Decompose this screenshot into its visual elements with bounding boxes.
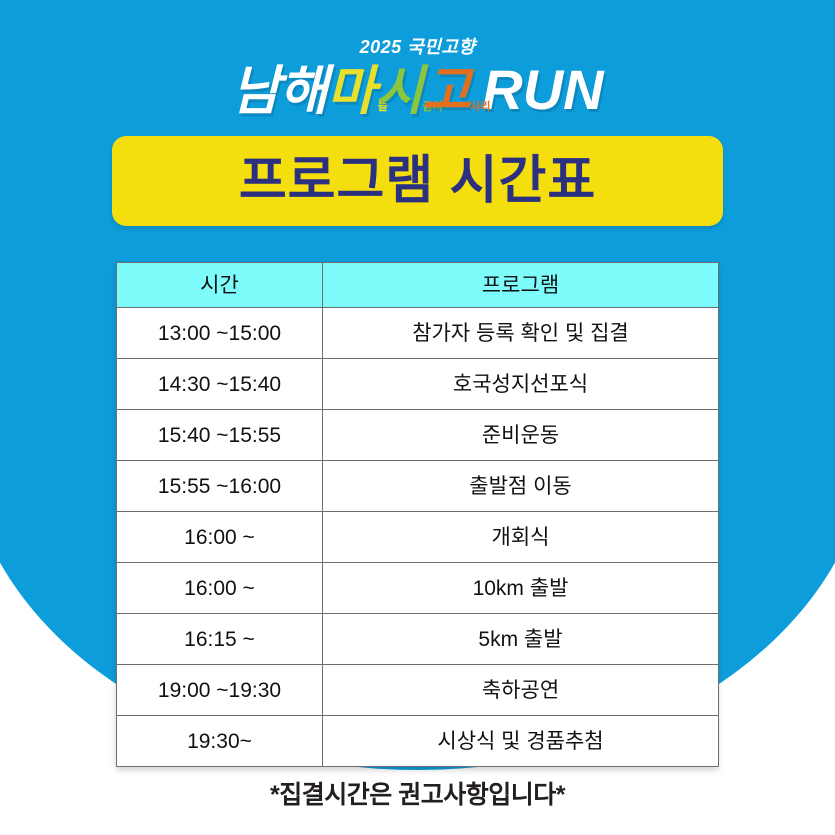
table-row: 14:30 ~15:40 호국성지선포식 (117, 359, 719, 410)
table-row: 13:00 ~15:00 참가자 등록 확인 및 집결 (117, 308, 719, 359)
cell-program: 5km 출발 (323, 614, 719, 665)
cell-program: 호국성지선포식 (323, 359, 719, 410)
title-banner: 프로그램 시간표 (112, 136, 723, 226)
cell-time: 16:00 ~ (117, 512, 323, 563)
table-row: 16:00 ~ 10km 출발 (117, 563, 719, 614)
poster-canvas: 2025 국민고향 남해마늘시금치고사리RUN 프로그램 시간표 시간 프로그램… (0, 0, 835, 835)
logo-part-si: 시 (375, 65, 423, 118)
schedule-table-container: 시간 프로그램 13:00 ~15:00 참가자 등록 확인 및 집결 14:3… (116, 262, 718, 767)
cell-time: 16:00 ~ (117, 563, 323, 614)
cell-program: 시상식 및 경품추첨 (323, 716, 719, 767)
logo-part-go: 고 (422, 65, 470, 118)
logo-part-si-wrap: 시금치 (375, 65, 423, 118)
table-row: 16:15 ~ 5km 출발 (117, 614, 719, 665)
page-title: 프로그램 시간표 (239, 155, 596, 207)
table-row: 19:30~ 시상식 및 경품추첨 (117, 716, 719, 767)
column-header-time: 시간 (117, 263, 323, 308)
logo-part-ma-wrap: 마늘 (327, 65, 375, 118)
logo-part-go-wrap: 고사리 (422, 65, 470, 118)
cell-program: 개회식 (323, 512, 719, 563)
logo-ruby-sari: 사리 (470, 102, 486, 114)
cell-program: 10km 출발 (323, 563, 719, 614)
cell-time: 16:15 ~ (117, 614, 323, 665)
logo-part-namhae: 남해 (231, 65, 327, 118)
footnote-text: *집결시간은 권고사항입니다* (0, 783, 835, 808)
cell-time: 19:00 ~19:30 (117, 665, 323, 716)
cell-time: 15:40 ~15:55 (117, 410, 323, 461)
cell-program: 참가자 등록 확인 및 집결 (323, 308, 719, 359)
schedule-table-head: 시간 프로그램 (117, 263, 719, 308)
cell-time: 15:55 ~16:00 (117, 461, 323, 512)
table-header-row: 시간 프로그램 (117, 263, 719, 308)
schedule-table: 시간 프로그램 13:00 ~15:00 참가자 등록 확인 및 집결 14:3… (116, 262, 719, 767)
poster-header: 2025 국민고향 남해마늘시금치고사리RUN (0, 0, 835, 118)
column-header-program: 프로그램 (323, 263, 719, 308)
cell-program: 출발점 이동 (323, 461, 719, 512)
table-row: 15:55 ~16:00 출발점 이동 (117, 461, 719, 512)
table-row: 19:00 ~19:30 축하공연 (117, 665, 719, 716)
schedule-table-body: 13:00 ~15:00 참가자 등록 확인 및 집결 14:30 ~15:40… (117, 308, 719, 767)
table-row: 15:40 ~15:55 준비운동 (117, 410, 719, 461)
table-row: 16:00 ~ 개회식 (117, 512, 719, 563)
cell-program: 준비운동 (323, 410, 719, 461)
event-logo: 남해마늘시금치고사리RUN (0, 62, 835, 118)
cell-program: 축하공연 (323, 665, 719, 716)
logo-part-ma: 마 (327, 65, 375, 118)
cell-time: 19:30~ (117, 716, 323, 767)
cell-time: 13:00 ~15:00 (117, 308, 323, 359)
event-eyebrow-text: 2025 국민고향 (0, 38, 835, 56)
cell-time: 14:30 ~15:40 (117, 359, 323, 410)
